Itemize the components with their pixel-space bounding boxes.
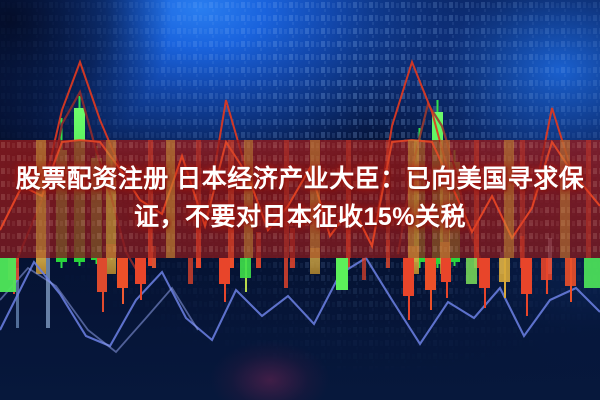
page-title: 股票配资注册 日本经济产业大臣：已向美国寻求保证，不要对日本征收15%关税: [0, 160, 600, 236]
news-banner: 股票配资注册 日本经济产业大臣：已向美国寻求保证，不要对日本征收15%关税: [0, 0, 600, 400]
